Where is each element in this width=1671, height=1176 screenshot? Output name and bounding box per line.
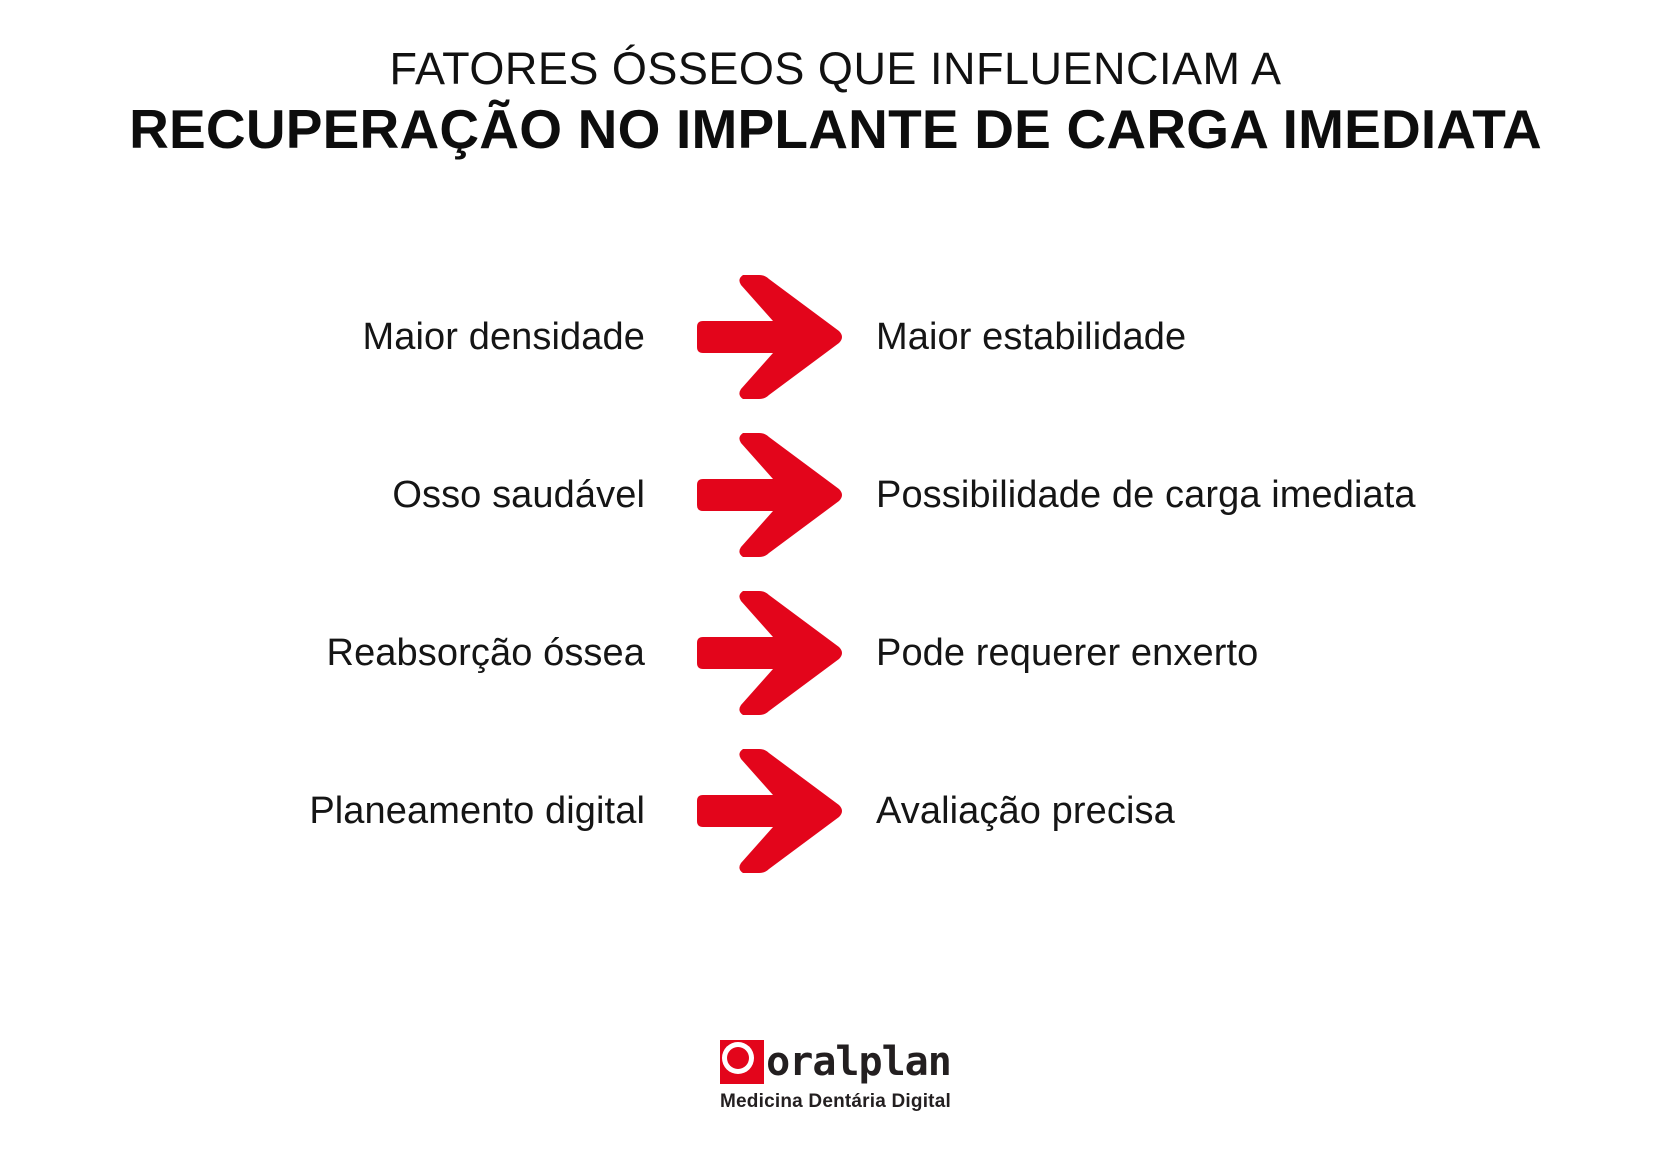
cause-label: Osso saudável <box>392 474 645 517</box>
list-item: Maior densidade Maior estabilidade <box>0 258 1671 416</box>
page-title: FATORES ÓSSEOS QUE INFLUENCIAM A RECUPER… <box>0 42 1671 162</box>
logo-wordmark: oralplan <box>766 1040 951 1084</box>
title-line-2: RECUPERAÇÃO NO IMPLANTE DE CARGA IMEDIAT… <box>0 97 1671 162</box>
brand-logo: oralplan Medicina Dentária Digital <box>0 1040 1671 1113</box>
right-arrow-icon <box>694 588 846 718</box>
list-item: Osso saudável Possibilidade de carga ime… <box>0 416 1671 574</box>
list-item: Reabsorção óssea Pode requerer enxerto <box>0 574 1671 732</box>
effect-label: Pode requerer enxerto <box>876 632 1258 675</box>
cause-label: Maior densidade <box>363 316 645 359</box>
logo-mark-row: oralplan <box>720 1040 951 1084</box>
effect-label: Possibilidade de carga imediata <box>876 474 1416 517</box>
right-arrow-icon <box>694 272 846 402</box>
right-arrow-icon <box>694 746 846 876</box>
relationship-list: Maior densidade Maior estabilidade Osso … <box>0 258 1671 890</box>
effect-label: Avaliação precisa <box>876 790 1175 833</box>
infographic-page: FATORES ÓSSEOS QUE INFLUENCIAM A RECUPER… <box>0 0 1671 1176</box>
right-arrow-icon <box>694 430 846 560</box>
list-item: Planeamento digital Avaliação precisa <box>0 732 1671 890</box>
cause-label: Planeamento digital <box>309 790 645 833</box>
logo-tagline: Medicina Dentária Digital <box>720 1091 951 1113</box>
oralplan-badge-icon <box>720 1040 764 1084</box>
effect-label: Maior estabilidade <box>876 316 1186 359</box>
title-line-1: FATORES ÓSSEOS QUE INFLUENCIAM A <box>0 42 1671 95</box>
cause-label: Reabsorção óssea <box>327 632 645 675</box>
